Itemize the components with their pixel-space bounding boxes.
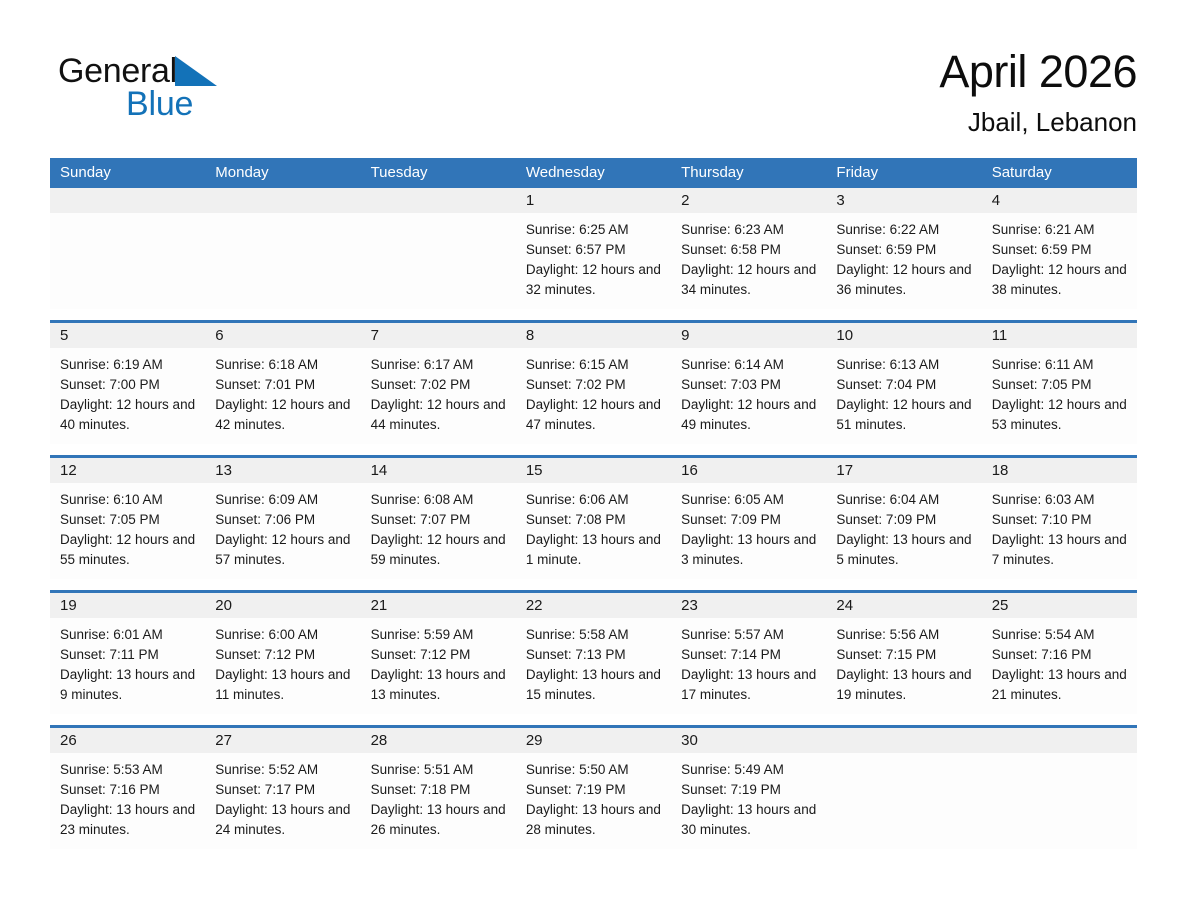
day-number: 5: [50, 323, 205, 348]
day-number: 17: [826, 458, 981, 483]
sunset-text: Sunset: 7:13 PM: [526, 645, 661, 665]
sunset-text: Sunset: 7:12 PM: [371, 645, 506, 665]
sunrise-text: Sunrise: 6:23 AM: [681, 220, 816, 240]
day-details: Sunrise: 6:00 AMSunset: 7:12 PMDaylight:…: [205, 618, 360, 705]
sunrise-text: Sunrise: 6:14 AM: [681, 355, 816, 375]
sunrise-text: Sunrise: 5:53 AM: [60, 760, 195, 780]
week-row: 12Sunrise: 6:10 AMSunset: 7:05 PMDayligh…: [50, 455, 1137, 579]
daylight-text: Daylight: 12 hours and 32 minutes.: [526, 260, 661, 300]
day-cell[interactable]: 11Sunrise: 6:11 AMSunset: 7:05 PMDayligh…: [982, 323, 1137, 444]
day-cell-empty: [982, 728, 1137, 849]
daylight-text: Daylight: 13 hours and 21 minutes.: [992, 665, 1127, 705]
day-details: Sunrise: 5:53 AMSunset: 7:16 PMDaylight:…: [50, 753, 205, 840]
daylight-text: Daylight: 13 hours and 3 minutes.: [681, 530, 816, 570]
weekday-header-wednesday: Wednesday: [516, 158, 671, 188]
sunrise-text: Sunrise: 5:50 AM: [526, 760, 661, 780]
daylight-text: Daylight: 13 hours and 17 minutes.: [681, 665, 816, 705]
day-number: 25: [982, 593, 1137, 618]
week-row: 5Sunrise: 6:19 AMSunset: 7:00 PMDaylight…: [50, 320, 1137, 444]
sunset-text: Sunset: 7:10 PM: [992, 510, 1127, 530]
page-header: General Blue April 2026 Jbail, Lebanon: [50, 44, 1137, 149]
daylight-text: Daylight: 13 hours and 7 minutes.: [992, 530, 1127, 570]
day-details: Sunrise: 6:23 AMSunset: 6:58 PMDaylight:…: [671, 213, 826, 300]
daylight-text: Daylight: 12 hours and 42 minutes.: [215, 395, 350, 435]
day-number: 1: [516, 188, 671, 213]
day-details: Sunrise: 6:03 AMSunset: 7:10 PMDaylight:…: [982, 483, 1137, 570]
day-cell[interactable]: 6Sunrise: 6:18 AMSunset: 7:01 PMDaylight…: [205, 323, 360, 444]
day-details: Sunrise: 6:17 AMSunset: 7:02 PMDaylight:…: [361, 348, 516, 435]
day-details: Sunrise: 6:04 AMSunset: 7:09 PMDaylight:…: [826, 483, 981, 570]
week-row: 1Sunrise: 6:25 AMSunset: 6:57 PMDaylight…: [50, 188, 1137, 309]
day-cell[interactable]: 20Sunrise: 6:00 AMSunset: 7:12 PMDayligh…: [205, 593, 360, 714]
sunset-text: Sunset: 7:17 PM: [215, 780, 350, 800]
calendar-page: General Blue April 2026 Jbail, Lebanon S…: [0, 0, 1188, 918]
sunrise-text: Sunrise: 6:25 AM: [526, 220, 661, 240]
day-number: [361, 188, 516, 213]
daylight-text: Daylight: 12 hours and 57 minutes.: [215, 530, 350, 570]
sunrise-text: Sunrise: 6:10 AM: [60, 490, 195, 510]
day-cell-empty: [50, 188, 205, 309]
calendar-weeks: 1Sunrise: 6:25 AMSunset: 6:57 PMDaylight…: [50, 188, 1137, 849]
daylight-text: Daylight: 13 hours and 19 minutes.: [836, 665, 971, 705]
day-cell[interactable]: 30Sunrise: 5:49 AMSunset: 7:19 PMDayligh…: [671, 728, 826, 849]
day-number: 22: [516, 593, 671, 618]
title-block: April 2026 Jbail, Lebanon: [939, 44, 1137, 138]
day-cell[interactable]: 2Sunrise: 6:23 AMSunset: 6:58 PMDaylight…: [671, 188, 826, 309]
weekday-header-friday: Friday: [826, 158, 981, 188]
day-cell[interactable]: 7Sunrise: 6:17 AMSunset: 7:02 PMDaylight…: [361, 323, 516, 444]
sunset-text: Sunset: 7:04 PM: [836, 375, 971, 395]
day-details: Sunrise: 6:11 AMSunset: 7:05 PMDaylight:…: [982, 348, 1137, 435]
day-cell[interactable]: 13Sunrise: 6:09 AMSunset: 7:06 PMDayligh…: [205, 458, 360, 579]
day-details: Sunrise: 5:56 AMSunset: 7:15 PMDaylight:…: [826, 618, 981, 705]
day-cell[interactable]: 3Sunrise: 6:22 AMSunset: 6:59 PMDaylight…: [826, 188, 981, 309]
daylight-text: Daylight: 12 hours and 53 minutes.: [992, 395, 1127, 435]
day-details: Sunrise: 6:14 AMSunset: 7:03 PMDaylight:…: [671, 348, 826, 435]
day-details: Sunrise: 6:15 AMSunset: 7:02 PMDaylight:…: [516, 348, 671, 435]
sunset-text: Sunset: 7:03 PM: [681, 375, 816, 395]
sunrise-text: Sunrise: 5:58 AM: [526, 625, 661, 645]
day-cell-empty: [361, 188, 516, 309]
day-number: 30: [671, 728, 826, 753]
day-details: Sunrise: 6:10 AMSunset: 7:05 PMDaylight:…: [50, 483, 205, 570]
day-details: [982, 753, 1137, 760]
logo-triangle-icon: [175, 56, 217, 86]
day-cell[interactable]: 5Sunrise: 6:19 AMSunset: 7:00 PMDaylight…: [50, 323, 205, 444]
day-number: 16: [671, 458, 826, 483]
sunrise-text: Sunrise: 6:00 AM: [215, 625, 350, 645]
daylight-text: Daylight: 12 hours and 44 minutes.: [371, 395, 506, 435]
weekday-header-thursday: Thursday: [671, 158, 826, 188]
day-number: 7: [361, 323, 516, 348]
sunset-text: Sunset: 7:16 PM: [992, 645, 1127, 665]
day-details: Sunrise: 6:01 AMSunset: 7:11 PMDaylight:…: [50, 618, 205, 705]
logo-top-row: General: [58, 52, 278, 90]
day-details: Sunrise: 6:05 AMSunset: 7:09 PMDaylight:…: [671, 483, 826, 570]
sunrise-text: Sunrise: 6:01 AM: [60, 625, 195, 645]
sunrise-text: Sunrise: 6:17 AM: [371, 355, 506, 375]
day-number: 20: [205, 593, 360, 618]
day-number: 13: [205, 458, 360, 483]
calendar-grid: SundayMondayTuesdayWednesdayThursdayFrid…: [50, 158, 1137, 849]
sunset-text: Sunset: 6:58 PM: [681, 240, 816, 260]
day-details: Sunrise: 6:06 AMSunset: 7:08 PMDaylight:…: [516, 483, 671, 570]
week-row: 26Sunrise: 5:53 AMSunset: 7:16 PMDayligh…: [50, 725, 1137, 849]
day-cell[interactable]: 27Sunrise: 5:52 AMSunset: 7:17 PMDayligh…: [205, 728, 360, 849]
day-number: 21: [361, 593, 516, 618]
sunset-text: Sunset: 7:09 PM: [681, 510, 816, 530]
day-cell[interactable]: 28Sunrise: 5:51 AMSunset: 7:18 PMDayligh…: [361, 728, 516, 849]
sunrise-text: Sunrise: 6:18 AM: [215, 355, 350, 375]
day-details: Sunrise: 6:22 AMSunset: 6:59 PMDaylight:…: [826, 213, 981, 300]
day-details: Sunrise: 5:58 AMSunset: 7:13 PMDaylight:…: [516, 618, 671, 705]
generalblue-logo: General Blue: [58, 52, 278, 132]
sunset-text: Sunset: 6:59 PM: [992, 240, 1127, 260]
sunrise-text: Sunrise: 6:15 AM: [526, 355, 661, 375]
day-cell[interactable]: 10Sunrise: 6:13 AMSunset: 7:04 PMDayligh…: [826, 323, 981, 444]
day-cell-empty: [826, 728, 981, 849]
day-details: Sunrise: 6:21 AMSunset: 6:59 PMDaylight:…: [982, 213, 1137, 300]
day-details: Sunrise: 5:51 AMSunset: 7:18 PMDaylight:…: [361, 753, 516, 840]
daylight-text: Daylight: 13 hours and 23 minutes.: [60, 800, 195, 840]
sunset-text: Sunset: 7:18 PM: [371, 780, 506, 800]
sunrise-text: Sunrise: 6:03 AM: [992, 490, 1127, 510]
week-row: 19Sunrise: 6:01 AMSunset: 7:11 PMDayligh…: [50, 590, 1137, 714]
sunset-text: Sunset: 6:57 PM: [526, 240, 661, 260]
daylight-text: Daylight: 12 hours and 55 minutes.: [60, 530, 195, 570]
daylight-text: Daylight: 13 hours and 5 minutes.: [836, 530, 971, 570]
sunrise-text: Sunrise: 6:19 AM: [60, 355, 195, 375]
day-cell[interactable]: 14Sunrise: 6:08 AMSunset: 7:07 PMDayligh…: [361, 458, 516, 579]
sunrise-text: Sunrise: 5:49 AM: [681, 760, 816, 780]
day-cell-empty: [205, 188, 360, 309]
day-cell[interactable]: 17Sunrise: 6:04 AMSunset: 7:09 PMDayligh…: [826, 458, 981, 579]
daylight-text: Daylight: 12 hours and 40 minutes.: [60, 395, 195, 435]
day-number: 2: [671, 188, 826, 213]
sunrise-text: Sunrise: 6:13 AM: [836, 355, 971, 375]
sunrise-text: Sunrise: 5:59 AM: [371, 625, 506, 645]
sunrise-text: Sunrise: 6:08 AM: [371, 490, 506, 510]
sunset-text: Sunset: 6:59 PM: [836, 240, 971, 260]
day-details: Sunrise: 5:50 AMSunset: 7:19 PMDaylight:…: [516, 753, 671, 840]
sunset-text: Sunset: 7:14 PM: [681, 645, 816, 665]
daylight-text: Daylight: 12 hours and 49 minutes.: [681, 395, 816, 435]
weekday-header-sunday: Sunday: [50, 158, 205, 188]
sunrise-text: Sunrise: 5:56 AM: [836, 625, 971, 645]
sunrise-text: Sunrise: 5:51 AM: [371, 760, 506, 780]
day-cell[interactable]: 12Sunrise: 6:10 AMSunset: 7:05 PMDayligh…: [50, 458, 205, 579]
sunrise-text: Sunrise: 5:57 AM: [681, 625, 816, 645]
sunset-text: Sunset: 7:11 PM: [60, 645, 195, 665]
day-number: [205, 188, 360, 213]
day-details: Sunrise: 6:19 AMSunset: 7:00 PMDaylight:…: [50, 348, 205, 435]
day-details: Sunrise: 5:59 AMSunset: 7:12 PMDaylight:…: [361, 618, 516, 705]
day-cell[interactable]: 19Sunrise: 6:01 AMSunset: 7:11 PMDayligh…: [50, 593, 205, 714]
day-details: [205, 213, 360, 220]
day-number: 19: [50, 593, 205, 618]
sunset-text: Sunset: 7:19 PM: [526, 780, 661, 800]
day-number: [982, 728, 1137, 753]
sunset-text: Sunset: 7:05 PM: [992, 375, 1127, 395]
day-number: [826, 728, 981, 753]
daylight-text: Daylight: 12 hours and 59 minutes.: [371, 530, 506, 570]
day-cell[interactable]: 4Sunrise: 6:21 AMSunset: 6:59 PMDaylight…: [982, 188, 1137, 309]
day-cell[interactable]: 21Sunrise: 5:59 AMSunset: 7:12 PMDayligh…: [361, 593, 516, 714]
day-details: Sunrise: 5:52 AMSunset: 7:17 PMDaylight:…: [205, 753, 360, 840]
day-details: Sunrise: 6:08 AMSunset: 7:07 PMDaylight:…: [361, 483, 516, 570]
weekday-header-saturday: Saturday: [982, 158, 1137, 188]
day-cell[interactable]: 8Sunrise: 6:15 AMSunset: 7:02 PMDaylight…: [516, 323, 671, 444]
daylight-text: Daylight: 13 hours and 30 minutes.: [681, 800, 816, 840]
day-number: 4: [982, 188, 1137, 213]
day-cell[interactable]: 9Sunrise: 6:14 AMSunset: 7:03 PMDaylight…: [671, 323, 826, 444]
daylight-text: Daylight: 13 hours and 9 minutes.: [60, 665, 195, 705]
sunset-text: Sunset: 7:02 PM: [526, 375, 661, 395]
sunrise-text: Sunrise: 5:54 AM: [992, 625, 1127, 645]
sunrise-text: Sunrise: 6:22 AM: [836, 220, 971, 240]
weekday-header-row: SundayMondayTuesdayWednesdayThursdayFrid…: [50, 158, 1137, 188]
day-details: Sunrise: 5:54 AMSunset: 7:16 PMDaylight:…: [982, 618, 1137, 705]
day-number: [50, 188, 205, 213]
day-number: 28: [361, 728, 516, 753]
sunrise-text: Sunrise: 6:09 AM: [215, 490, 350, 510]
day-number: 29: [516, 728, 671, 753]
day-number: 3: [826, 188, 981, 213]
location-subtitle: Jbail, Lebanon: [939, 106, 1137, 138]
daylight-text: Daylight: 12 hours and 38 minutes.: [992, 260, 1127, 300]
sunset-text: Sunset: 7:07 PM: [371, 510, 506, 530]
day-number: 12: [50, 458, 205, 483]
sunrise-text: Sunrise: 6:05 AM: [681, 490, 816, 510]
day-cell[interactable]: 16Sunrise: 6:05 AMSunset: 7:09 PMDayligh…: [671, 458, 826, 579]
sunset-text: Sunset: 7:00 PM: [60, 375, 195, 395]
day-cell[interactable]: 26Sunrise: 5:53 AMSunset: 7:16 PMDayligh…: [50, 728, 205, 849]
day-details: [826, 753, 981, 760]
daylight-text: Daylight: 12 hours and 34 minutes.: [681, 260, 816, 300]
day-number: 11: [982, 323, 1137, 348]
weekday-header-monday: Monday: [205, 158, 360, 188]
day-number: 9: [671, 323, 826, 348]
sunset-text: Sunset: 7:16 PM: [60, 780, 195, 800]
day-details: [361, 213, 516, 220]
day-cell[interactable]: 18Sunrise: 6:03 AMSunset: 7:10 PMDayligh…: [982, 458, 1137, 579]
day-details: Sunrise: 6:25 AMSunset: 6:57 PMDaylight:…: [516, 213, 671, 300]
day-cell[interactable]: 24Sunrise: 5:56 AMSunset: 7:15 PMDayligh…: [826, 593, 981, 714]
sunset-text: Sunset: 7:05 PM: [60, 510, 195, 530]
day-details: Sunrise: 5:57 AMSunset: 7:14 PMDaylight:…: [671, 618, 826, 705]
daylight-text: Daylight: 12 hours and 47 minutes.: [526, 395, 661, 435]
day-details: Sunrise: 5:49 AMSunset: 7:19 PMDaylight:…: [671, 753, 826, 840]
sunset-text: Sunset: 7:15 PM: [836, 645, 971, 665]
daylight-text: Daylight: 13 hours and 24 minutes.: [215, 800, 350, 840]
day-details: Sunrise: 6:18 AMSunset: 7:01 PMDaylight:…: [205, 348, 360, 435]
sunset-text: Sunset: 7:12 PM: [215, 645, 350, 665]
daylight-text: Daylight: 13 hours and 28 minutes.: [526, 800, 661, 840]
day-number: 24: [826, 593, 981, 618]
logo-text-blue: Blue: [126, 86, 278, 122]
daylight-text: Daylight: 13 hours and 26 minutes.: [371, 800, 506, 840]
sunset-text: Sunset: 7:01 PM: [215, 375, 350, 395]
daylight-text: Daylight: 13 hours and 1 minute.: [526, 530, 661, 570]
sunrise-text: Sunrise: 6:04 AM: [836, 490, 971, 510]
day-details: Sunrise: 6:09 AMSunset: 7:06 PMDaylight:…: [205, 483, 360, 570]
sunset-text: Sunset: 7:08 PM: [526, 510, 661, 530]
day-cell[interactable]: 29Sunrise: 5:50 AMSunset: 7:19 PMDayligh…: [516, 728, 671, 849]
day-number: 14: [361, 458, 516, 483]
day-number: 8: [516, 323, 671, 348]
page-title: April 2026: [939, 44, 1137, 100]
day-cell[interactable]: 15Sunrise: 6:06 AMSunset: 7:08 PMDayligh…: [516, 458, 671, 579]
sunrise-text: Sunrise: 5:52 AM: [215, 760, 350, 780]
daylight-text: Daylight: 13 hours and 15 minutes.: [526, 665, 661, 705]
day-number: 10: [826, 323, 981, 348]
sunset-text: Sunset: 7:02 PM: [371, 375, 506, 395]
daylight-text: Daylight: 12 hours and 36 minutes.: [836, 260, 971, 300]
day-cell[interactable]: 22Sunrise: 5:58 AMSunset: 7:13 PMDayligh…: [516, 593, 671, 714]
daylight-text: Daylight: 13 hours and 13 minutes.: [371, 665, 506, 705]
day-cell[interactable]: 1Sunrise: 6:25 AMSunset: 6:57 PMDaylight…: [516, 188, 671, 309]
sunset-text: Sunset: 7:19 PM: [681, 780, 816, 800]
day-number: 6: [205, 323, 360, 348]
day-details: Sunrise: 6:13 AMSunset: 7:04 PMDaylight:…: [826, 348, 981, 435]
daylight-text: Daylight: 13 hours and 11 minutes.: [215, 665, 350, 705]
sunrise-text: Sunrise: 6:06 AM: [526, 490, 661, 510]
weekday-header-tuesday: Tuesday: [361, 158, 516, 188]
sunrise-text: Sunrise: 6:21 AM: [992, 220, 1127, 240]
day-cell[interactable]: 23Sunrise: 5:57 AMSunset: 7:14 PMDayligh…: [671, 593, 826, 714]
day-number: 15: [516, 458, 671, 483]
day-cell[interactable]: 25Sunrise: 5:54 AMSunset: 7:16 PMDayligh…: [982, 593, 1137, 714]
day-number: 27: [205, 728, 360, 753]
sunrise-text: Sunrise: 6:11 AM: [992, 355, 1127, 375]
daylight-text: Daylight: 12 hours and 51 minutes.: [836, 395, 971, 435]
day-number: 18: [982, 458, 1137, 483]
day-number: 26: [50, 728, 205, 753]
day-number: 23: [671, 593, 826, 618]
sunset-text: Sunset: 7:09 PM: [836, 510, 971, 530]
day-details: [50, 213, 205, 220]
logo-text-general: General: [58, 52, 177, 90]
sunset-text: Sunset: 7:06 PM: [215, 510, 350, 530]
